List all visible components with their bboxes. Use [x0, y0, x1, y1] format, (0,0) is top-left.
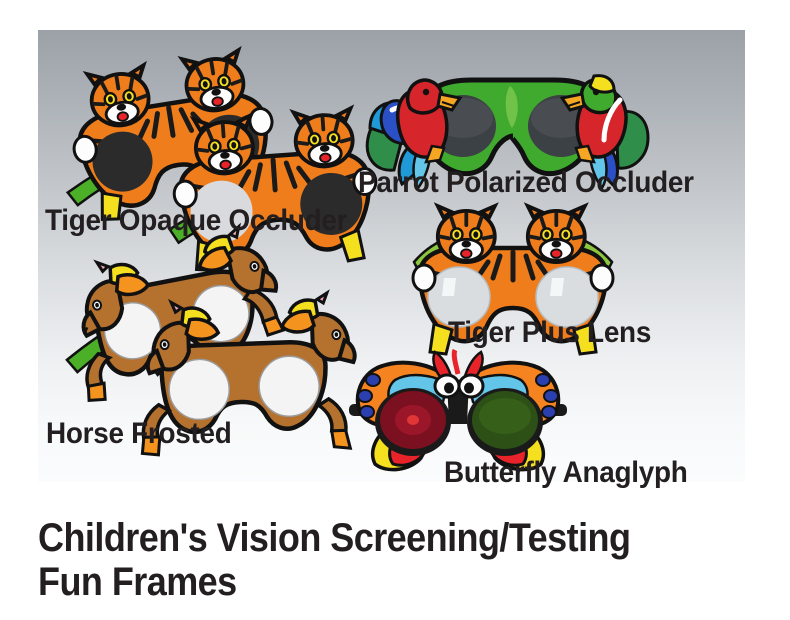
- product-label-horse-frosted: Horse Frosted: [46, 419, 232, 449]
- product-label-tiger-plus-lens: Tiger Plus Lens: [448, 318, 651, 348]
- product-label-parrot-polarized-occluder: Parrot Polarized Occluder: [358, 168, 694, 198]
- poster-title-line-2: Fun Frames: [38, 560, 686, 604]
- product-label-tiger-opaque-occluder: Tiger Opaque Occluder: [45, 206, 347, 236]
- poster-title: Children's Vision Screening/Testing Fun …: [38, 516, 758, 604]
- product-photo-panel: [38, 30, 745, 482]
- poster-title-line-1: Children's Vision Screening/Testing: [38, 516, 686, 560]
- product-label-butterfly-anaglyph: Butterfly Anaglyph: [444, 458, 688, 488]
- poster: Tiger Opaque Occluder Parrot Polarized O…: [0, 0, 790, 620]
